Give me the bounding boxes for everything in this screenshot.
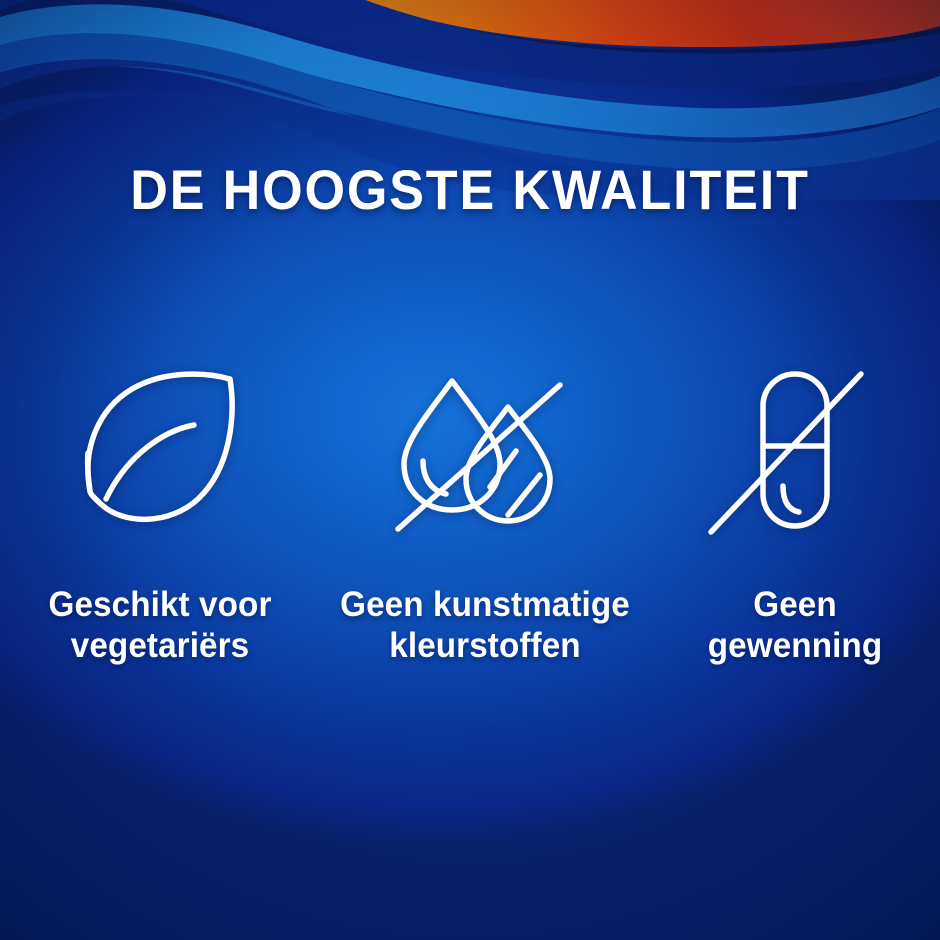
leaf-icon-wrapper (70, 360, 250, 540)
no-capsule-icon (705, 360, 885, 540)
no-droplets-icon (390, 363, 580, 538)
feature-caption-vegetarian: Geschikt voor vegetariërs (18, 584, 303, 666)
feature-caption-no-artificial-colours: Geen kunstmatige kleurstoffen (324, 584, 647, 666)
feature-list: Geschikt voor vegetariërs (0, 360, 940, 666)
banner-canvas: DE HOOGSTE KWALITEIT Geschikt voor veget… (0, 0, 940, 940)
page-title: DE HOOGSTE KWALITEIT (33, 158, 907, 222)
no-droplets-icon-wrapper (390, 360, 580, 540)
leaf-icon (70, 365, 250, 535)
no-capsule-icon-wrapper (705, 360, 885, 540)
feature-item-non-habit-forming: Geen gewenning (650, 360, 940, 666)
feature-item-no-artificial-colours: Geen kunstmatige kleurstoffen (320, 360, 650, 666)
feature-caption-non-habit-forming: Geen gewenning (672, 584, 919, 666)
feature-item-vegetarian: Geschikt voor vegetariërs (0, 360, 320, 666)
